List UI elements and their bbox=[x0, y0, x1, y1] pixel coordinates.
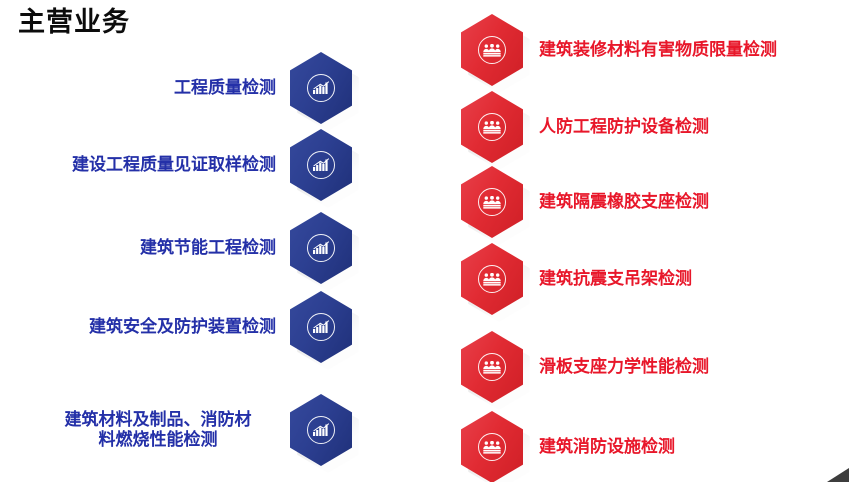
right-label-2: 建筑隔震橡胶支座检测 bbox=[523, 192, 709, 212]
right-hexagon-2[interactable] bbox=[461, 166, 523, 238]
left-row-2[interactable]: 建筑节能工程检测 bbox=[0, 212, 352, 284]
left-hexagon-4[interactable] bbox=[290, 394, 352, 466]
left-label-3: 建筑安全及防护装置检测 bbox=[28, 317, 290, 337]
people-group-icon bbox=[478, 113, 506, 141]
people-group-icon bbox=[478, 188, 506, 216]
right-row-3[interactable]: 建筑抗震支吊架检测 bbox=[461, 243, 849, 315]
right-hexagon-4[interactable] bbox=[461, 331, 523, 403]
right-row-1[interactable]: 人防工程防护设备检测 bbox=[461, 91, 849, 163]
people-group-icon bbox=[478, 265, 506, 293]
right-label-3: 建筑抗震支吊架检测 bbox=[523, 269, 692, 289]
right-hexagon-3[interactable] bbox=[461, 243, 523, 315]
left-row-4[interactable]: 建筑材料及制品、消防材 料燃烧性能检测 bbox=[0, 394, 352, 466]
bar-chart-icon bbox=[307, 313, 335, 341]
left-hexagon-0[interactable] bbox=[290, 52, 352, 124]
right-label-0: 建筑装修材料有害物质限量检测 bbox=[523, 40, 777, 60]
right-label-1: 人防工程防护设备检测 bbox=[523, 117, 709, 137]
right-row-0[interactable]: 建筑装修材料有害物质限量检测 bbox=[461, 14, 849, 86]
bar-chart-icon bbox=[307, 74, 335, 102]
left-hexagon-1[interactable] bbox=[290, 129, 352, 201]
slide-canvas: 主营业务 工程质量检测 建设工程质量见证取样检测 建筑节能工程检测 bbox=[0, 0, 849, 482]
bar-chart-icon bbox=[307, 234, 335, 262]
left-hexagon-3[interactable] bbox=[290, 291, 352, 363]
left-row-3[interactable]: 建筑安全及防护装置检测 bbox=[0, 291, 352, 363]
left-label-2: 建筑节能工程检测 bbox=[40, 238, 290, 258]
left-label-0: 工程质量检测 bbox=[40, 78, 290, 98]
right-row-5[interactable]: 建筑消防设施检测 bbox=[461, 411, 849, 482]
page-title: 主营业务 bbox=[18, 8, 130, 38]
people-group-icon bbox=[478, 353, 506, 381]
left-hexagon-2[interactable] bbox=[290, 212, 352, 284]
corner-triangle-decoration bbox=[827, 468, 849, 482]
bar-chart-icon bbox=[307, 416, 335, 444]
right-hexagon-5[interactable] bbox=[461, 411, 523, 482]
left-row-0[interactable]: 工程质量检测 bbox=[0, 52, 352, 124]
left-label-4: 建筑材料及制品、消防材 料燃烧性能检测 bbox=[40, 410, 290, 451]
right-row-4[interactable]: 滑板支座力学性能检测 bbox=[461, 331, 849, 403]
bar-chart-icon bbox=[307, 151, 335, 179]
left-row-1[interactable]: 建设工程质量见证取样检测 bbox=[0, 129, 352, 201]
left-label-1: 建设工程质量见证取样检测 bbox=[15, 155, 290, 175]
right-label-4: 滑板支座力学性能检测 bbox=[523, 357, 709, 377]
right-hexagon-1[interactable] bbox=[461, 91, 523, 163]
right-hexagon-0[interactable] bbox=[461, 14, 523, 86]
right-label-5: 建筑消防设施检测 bbox=[523, 437, 675, 457]
people-group-icon bbox=[478, 36, 506, 64]
people-group-icon bbox=[478, 433, 506, 461]
right-row-2[interactable]: 建筑隔震橡胶支座检测 bbox=[461, 166, 849, 238]
